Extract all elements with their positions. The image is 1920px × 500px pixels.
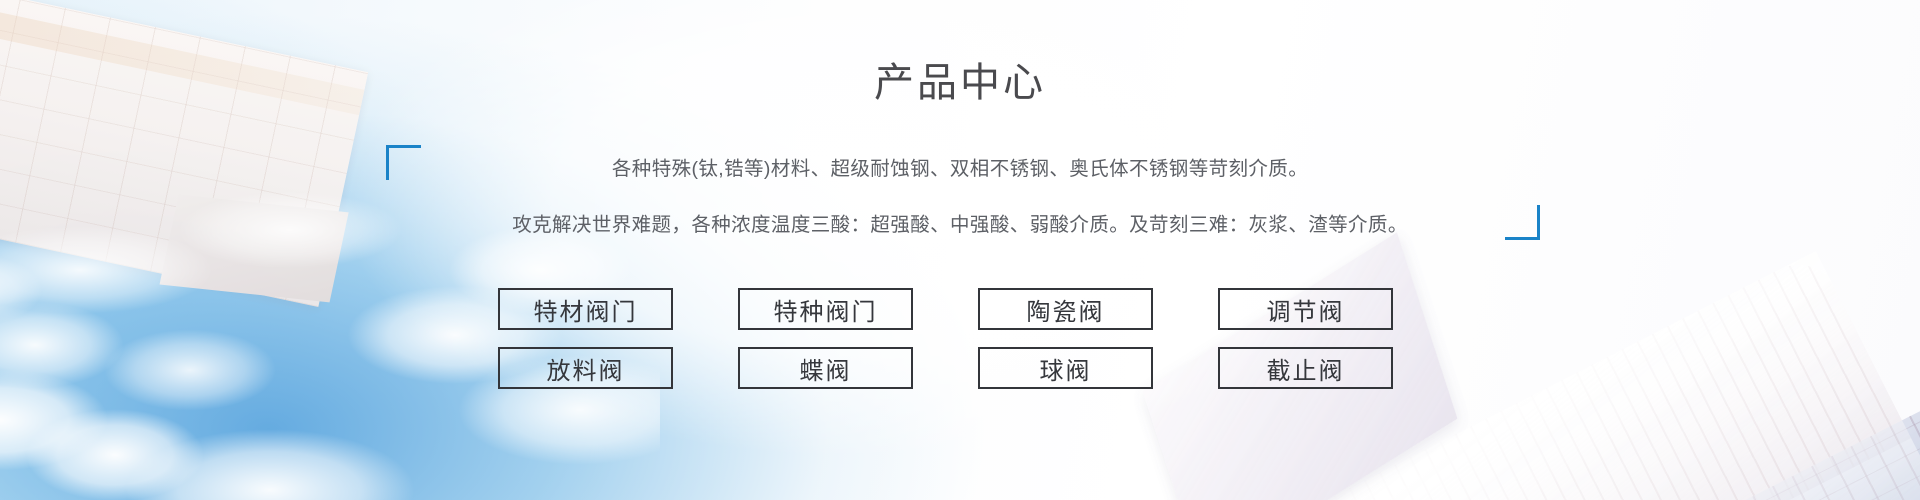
category-button-globe-valve[interactable]: 截止阀 (1218, 347, 1393, 389)
category-button-discharge-valve[interactable]: 放料阀 (498, 347, 673, 389)
category-button-butterfly-valve[interactable]: 蝶阀 (738, 347, 913, 389)
category-button-special-valve[interactable]: 特种阀门 (738, 288, 913, 330)
category-button-techai-valve[interactable]: 特材阀门 (498, 288, 673, 330)
page-title: 产品中心 (0, 50, 1920, 108)
category-button-ceramic-valve[interactable]: 陶瓷阀 (978, 288, 1153, 330)
category-button-grid: 特材阀门 特种阀门 陶瓷阀 调节阀 放料阀 蝶阀 球阀 截止阀 (498, 288, 1428, 389)
description-line-2: 攻克解决世界难题，各种浓度温度三酸：超强酸、中强酸、弱酸介质。及苛刻三难：灰浆、… (0, 208, 1920, 237)
category-button-ball-valve[interactable]: 球阀 (978, 347, 1153, 389)
product-center-banner: 产品中心 各种特殊(钛,锆等)材料、超级耐蚀钢、双相不锈钢、奥氏体不锈钢等苛刻介… (0, 0, 1920, 500)
banner-content: 产品中心 各种特殊(钛,锆等)材料、超级耐蚀钢、双相不锈钢、奥氏体不锈钢等苛刻介… (0, 0, 1920, 500)
description-line-1: 各种特殊(钛,锆等)材料、超级耐蚀钢、双相不锈钢、奥氏体不锈钢等苛刻介质。 (0, 152, 1920, 181)
category-button-control-valve[interactable]: 调节阀 (1218, 288, 1393, 330)
